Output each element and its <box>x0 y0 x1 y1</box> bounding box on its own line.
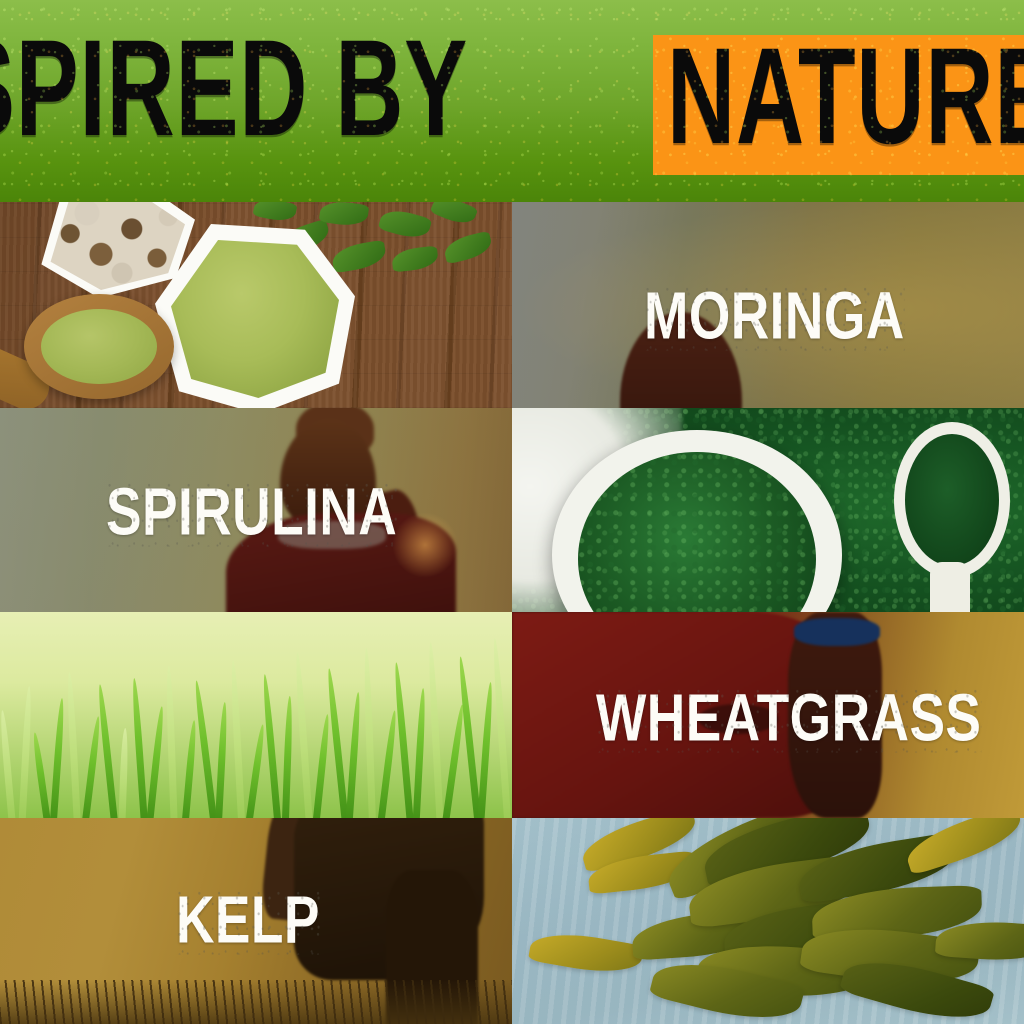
cell-kelp-photo <box>512 818 1024 1024</box>
wheatgrass-blades <box>0 612 512 818</box>
spoon-powder <box>41 309 157 384</box>
spirulina-powder <box>578 452 816 612</box>
headline-text-inspired-by: INSPIRED BY <box>0 20 468 157</box>
wooden-spoon <box>0 294 192 402</box>
moringa-powder <box>171 240 339 398</box>
poster-canvas: INSPIRED BY NATURE <box>0 0 1024 1024</box>
sun-flare <box>392 512 458 578</box>
spoon-powder <box>905 434 999 566</box>
spoon-bowl <box>894 422 1010 578</box>
headline: INSPIRED BY NATURE <box>0 27 1024 167</box>
header-banner: INSPIRED BY NATURE <box>0 0 1024 202</box>
cell-spirulina-label[interactable]: SPIRULINA <box>0 408 512 612</box>
spoon-bowl <box>24 294 174 399</box>
cell-moringa-photo <box>0 202 512 408</box>
cell-spirulina-photo <box>512 408 1024 612</box>
cell-wheatgrass-label[interactable]: WHEATGRASS <box>512 612 1024 818</box>
cell-moringa-label[interactable]: MORINGA <box>512 202 1024 408</box>
header-banner-content: INSPIRED BY NATURE <box>0 0 1024 202</box>
spoon-handle <box>930 562 970 612</box>
dried-pods <box>45 202 185 290</box>
label-kelp: KELP <box>176 888 320 955</box>
label-wheatgrass: WHEATGRASS <box>596 686 981 753</box>
armband <box>794 618 880 646</box>
headline-highlight-box: NATURE <box>653 35 1024 175</box>
label-moringa: MORINGA <box>644 284 905 351</box>
cell-wheatgrass-photo <box>0 612 512 818</box>
label-spirulina: SPIRULINA <box>106 480 397 547</box>
ingredient-grid: MORINGA SPIRULINA <box>0 202 1024 1024</box>
cell-kelp-label[interactable]: KELP <box>0 818 512 1024</box>
foreground-grass <box>0 980 512 1024</box>
spirulina-spoon <box>890 422 1014 612</box>
headline-text-nature: NATURE <box>667 28 1024 165</box>
